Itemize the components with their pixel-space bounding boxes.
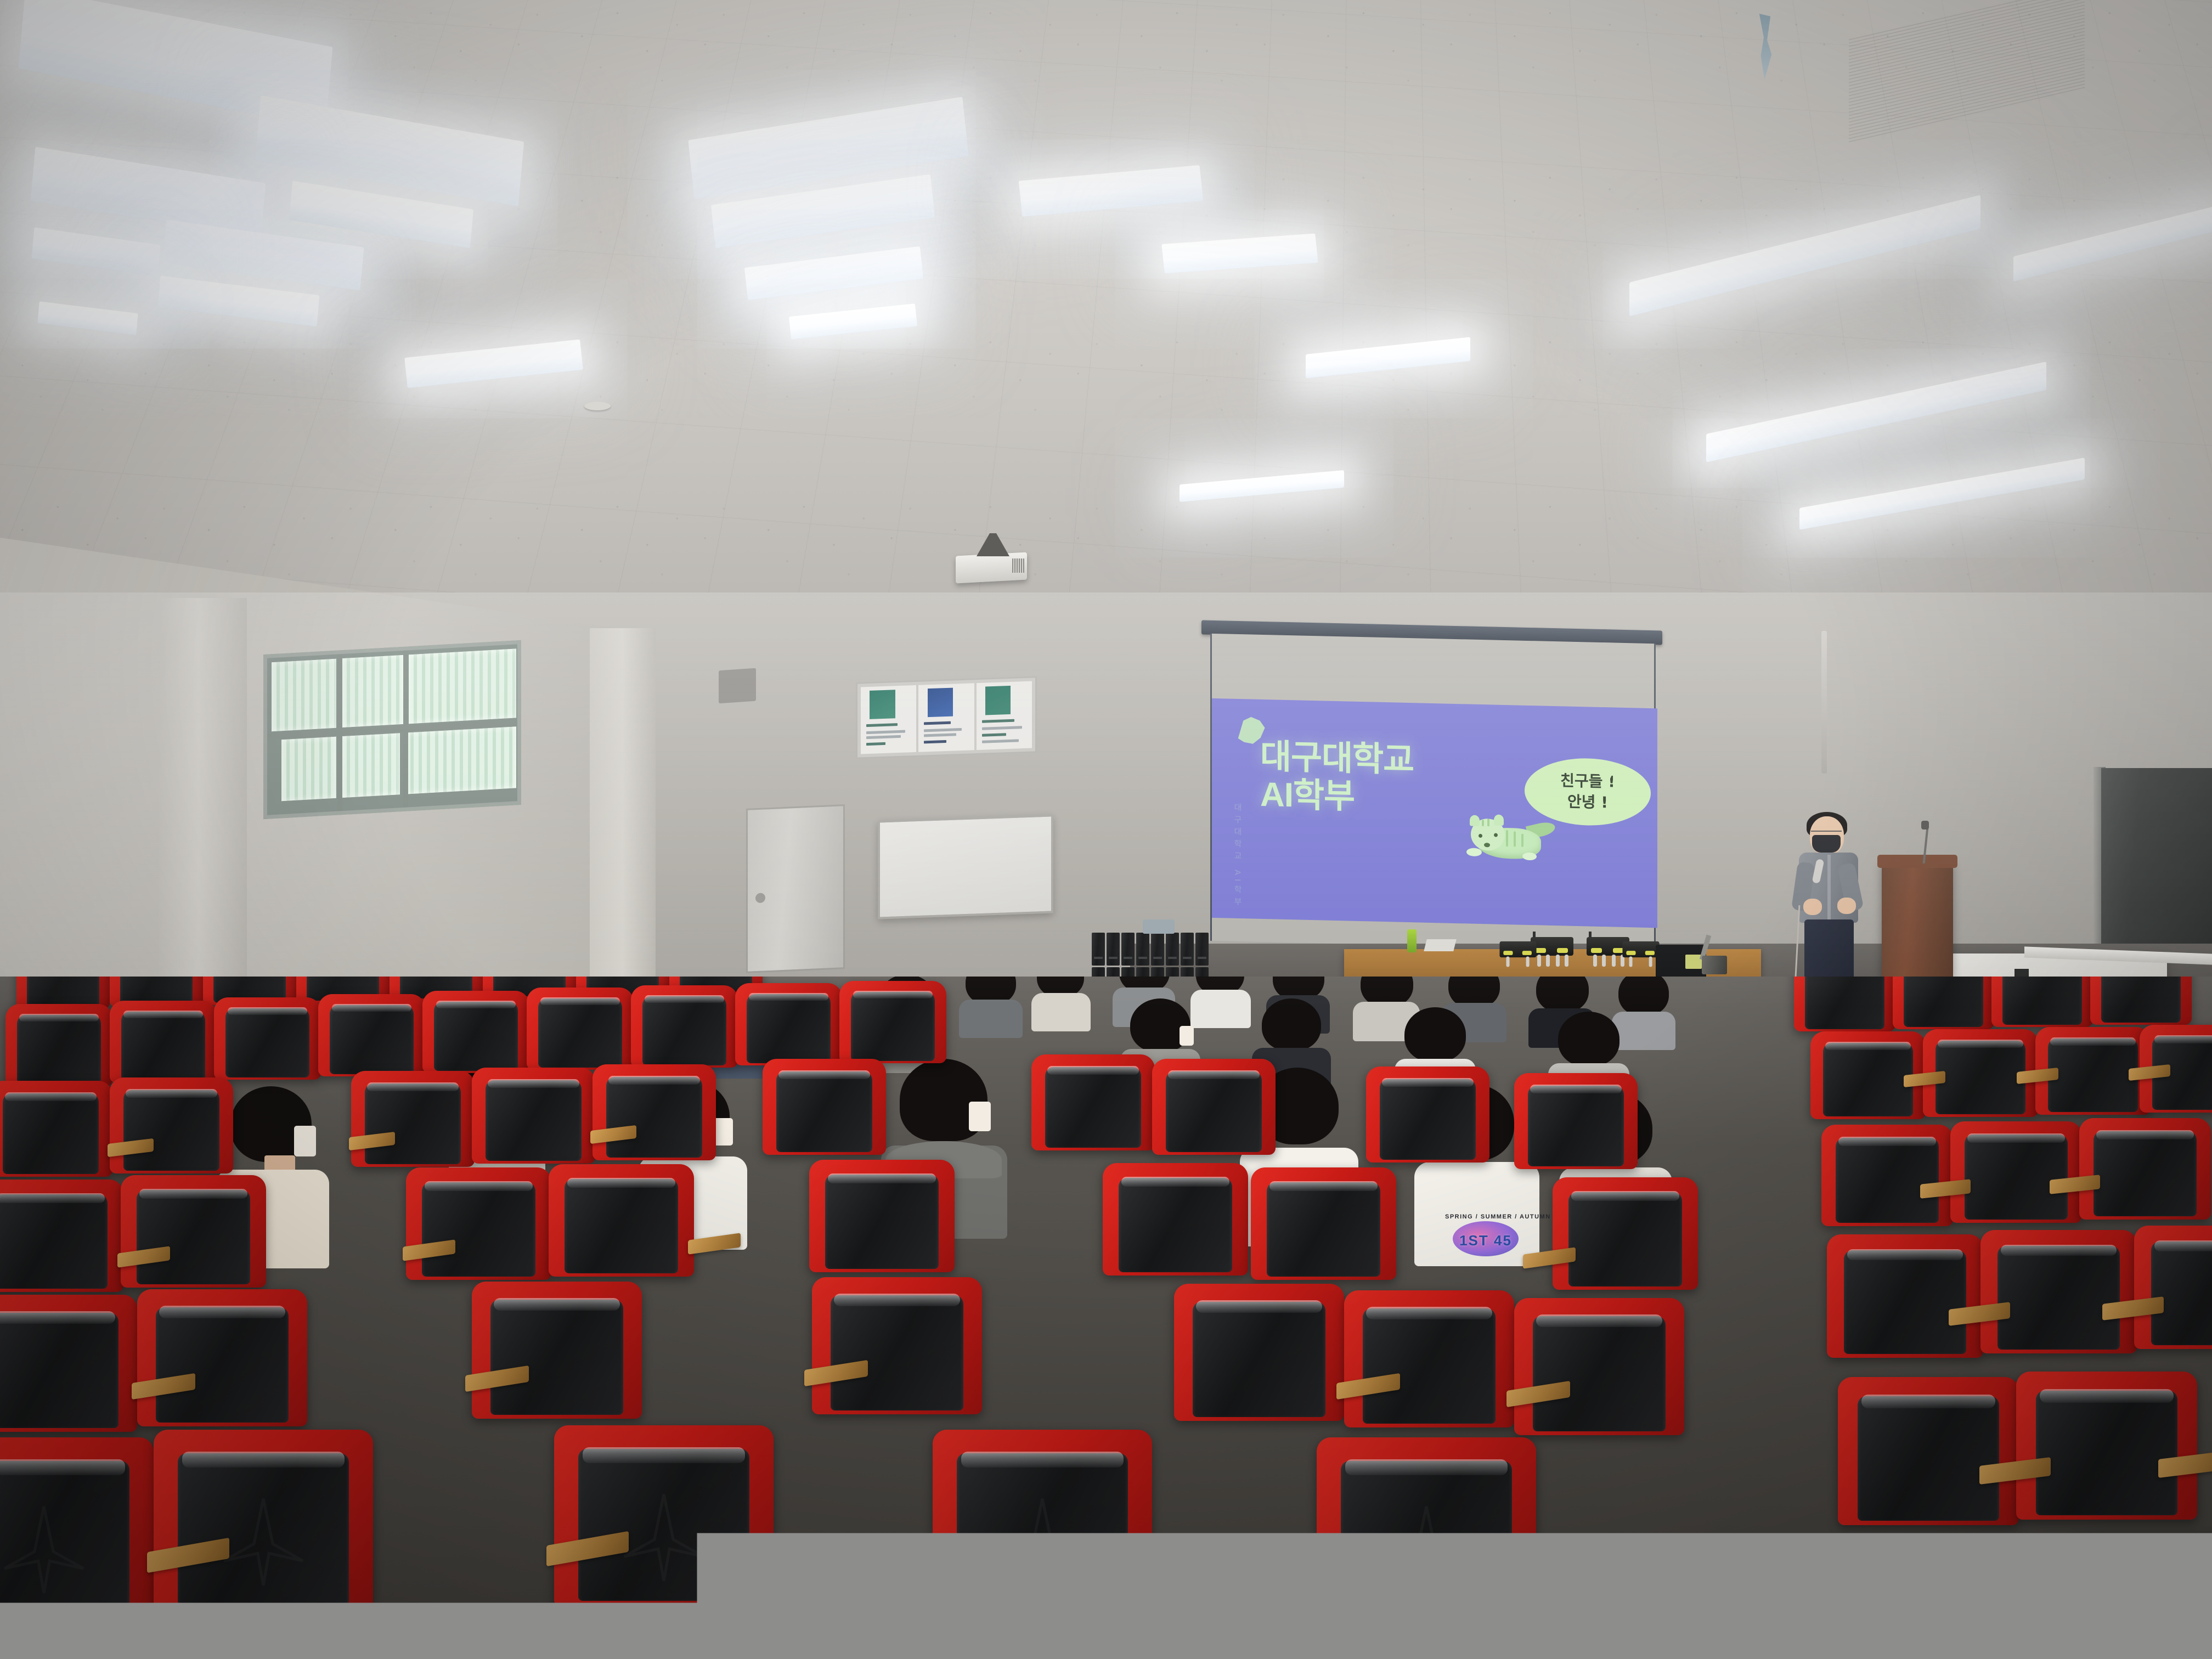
auditorium-seat[interactable] [592, 1064, 716, 1160]
auditorium-seat[interactable] [472, 1068, 595, 1164]
auditorium-seat[interactable] [809, 1160, 955, 1272]
poster [918, 683, 974, 752]
auditorium-seat[interactable] [0, 1180, 123, 1292]
podium-mic-head-icon [1921, 821, 1929, 830]
presenter [1791, 816, 1868, 986]
auditorium-seat[interactable] [0, 1295, 137, 1432]
auditorium-seat[interactable] [121, 1175, 266, 1288]
auditorium-seat[interactable] [554, 1425, 774, 1606]
auditorium-seat[interactable] [318, 994, 425, 1076]
presenter-pants [1804, 919, 1854, 981]
auditorium-seat[interactable] [1553, 1177, 1698, 1290]
tiger-head [1471, 819, 1505, 851]
pc-tower [1136, 933, 1149, 966]
auditorium-seat[interactable] [1893, 977, 1994, 1029]
projection-screen: 대구대학교 AI학부 대구대학교 AI학부 [1201, 620, 1662, 960]
auditorium-seat[interactable] [763, 1059, 886, 1155]
auditorium-seat[interactable] [527, 988, 634, 1070]
auditorium-seat[interactable] [2016, 1372, 2197, 1520]
paper-stack [1424, 939, 1456, 951]
auditorium-seat[interactable] [1317, 1437, 1536, 1618]
pc-tower [1121, 933, 1135, 966]
projector-vent [1012, 558, 1024, 573]
pc-stack-box [1143, 919, 1175, 934]
wall-speaker [719, 668, 756, 704]
auditorium-seat[interactable] [2068, 1534, 2212, 1659]
speech-bubble-tail [1588, 761, 1617, 787]
pc-tower [1166, 933, 1179, 966]
tshirt-arc-text: SPRING / SUMMER / AUTUMN / WINTER [1445, 1214, 1519, 1232]
pc-tower [1107, 933, 1120, 966]
speech-bubble: 친구들 ! 안녕 ! [1525, 757, 1651, 827]
auditorium-seat[interactable] [1950, 1121, 2082, 1223]
auditorium-seat[interactable] [812, 1277, 982, 1414]
quadruped-robot [1622, 941, 1659, 968]
auditorium-seat[interactable] [2090, 977, 2192, 1025]
slide-side-text: 대구대학교 AI학부 [1232, 803, 1243, 910]
pc-tower [1181, 933, 1194, 966]
auditorium-seat[interactable] [1344, 1290, 1514, 1427]
quadruped-robot [1499, 941, 1536, 968]
auditorium-seat[interactable] [137, 1289, 307, 1426]
auditorium-seat[interactable] [472, 1282, 642, 1419]
slide-title: 대구대학교 AI학부 [1260, 738, 1414, 817]
seat-star-emblem-icon [0, 1503, 101, 1597]
auditorium-seat[interactable] [1366, 1066, 1489, 1163]
auditorium-seat[interactable] [1251, 1167, 1396, 1280]
auditorium-seat[interactable] [2134, 1226, 2212, 1349]
tshirt-graphic-text: 1ST 45 [1453, 1232, 1519, 1249]
ceiling [0, 0, 2212, 647]
auditorium-seat[interactable] [0, 1081, 112, 1177]
side-door[interactable] [746, 804, 845, 973]
auditorium-seat[interactable] [110, 1077, 233, 1173]
pc-tower [1151, 933, 1164, 966]
tiger-mascot-icon: 친구들 ! 안녕 ! [1470, 809, 1552, 871]
auditorium-seat[interactable] [214, 997, 321, 1080]
screen-surface: 대구대학교 AI학부 대구대학교 AI학부 [1210, 634, 1656, 951]
auditorium-seat[interactable] [933, 1430, 1152, 1611]
wall-column [159, 598, 247, 1020]
auditorium-seat[interactable] [1514, 1298, 1684, 1435]
auditorium-seat[interactable] [154, 1430, 373, 1611]
auditorium-seat[interactable] [1174, 1284, 1344, 1421]
auditorium-seat[interactable] [422, 991, 529, 1073]
whiteboard [878, 814, 1053, 919]
auditorium-seat[interactable] [0, 1437, 154, 1618]
presentation-slide: 대구대학교 AI학부 대구대학교 AI학부 [1212, 698, 1657, 928]
poster [977, 681, 1032, 751]
auditorium-seat[interactable] [839, 981, 946, 1063]
wall-column [590, 628, 656, 990]
auditorium-seat[interactable] [735, 983, 842, 1065]
seating-area: 1ST 45 SPRING / SUMMER / AUTUMN / WINTER [0, 977, 2212, 1659]
lecture-hall-photo: 대구대학교 AI학부 대구대학교 AI학부 [0, 0, 2212, 1659]
auditorium-seat[interactable] [1854, 1542, 2068, 1659]
poster [861, 685, 916, 754]
auditorium-seat[interactable] [549, 1164, 694, 1277]
auditorium-seat[interactable] [2079, 1118, 2211, 1220]
auditorium-seat[interactable] [1991, 977, 2093, 1027]
auditorium-seat[interactable] [1794, 977, 1895, 1031]
pc-tower [1195, 933, 1209, 966]
face-mask-icon [1812, 835, 1841, 853]
auditorium-seat[interactable] [5, 1004, 112, 1086]
quadruped-robot [1531, 937, 1573, 968]
auditorium-seat[interactable] [1152, 1059, 1276, 1155]
auditorium-seat[interactable] [1827, 1234, 1983, 1358]
auditorium-seat[interactable] [1821, 1125, 1953, 1226]
podium-top [1877, 855, 1957, 868]
auditorium-seat[interactable] [1838, 1377, 2019, 1525]
clerestory-window [263, 640, 521, 819]
door-knob-icon [755, 893, 765, 903]
auditorium-seat[interactable] [1031, 1054, 1155, 1150]
pc-tower [1092, 933, 1105, 966]
auditorium-seat[interactable] [351, 1071, 475, 1167]
auditorium-seat[interactable] [1514, 1073, 1638, 1169]
wall-light-fixture [1821, 631, 1827, 774]
auditorium-seat[interactable] [1103, 1163, 1248, 1276]
auditorium-seat[interactable] [1980, 1230, 2137, 1353]
auditorium-seat[interactable] [631, 985, 738, 1068]
poster-display-case [856, 676, 1037, 759]
auditorium-seat[interactable] [110, 1001, 217, 1083]
auditorium-seat[interactable] [406, 1167, 551, 1280]
podium [1882, 861, 1953, 977]
smoke-detector-icon [584, 402, 611, 410]
green-bottle [1407, 929, 1417, 952]
